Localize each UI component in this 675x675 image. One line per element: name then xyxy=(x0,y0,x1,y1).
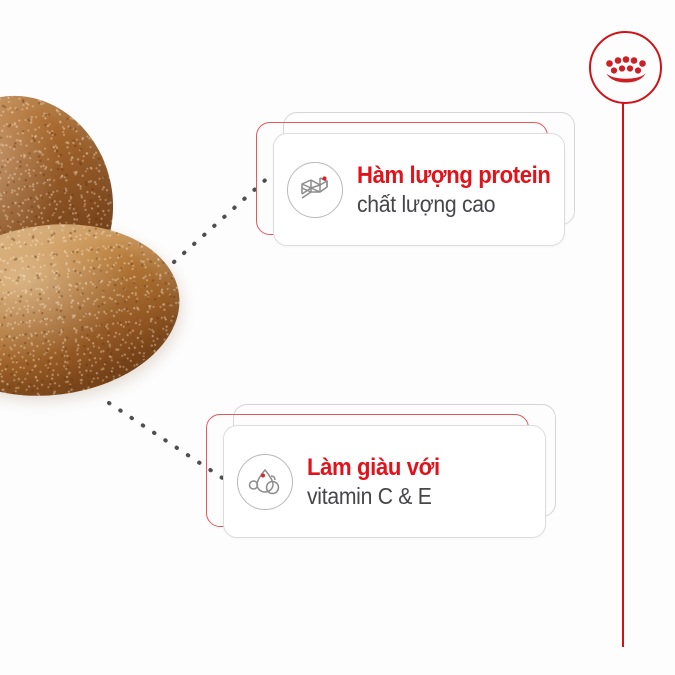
callout-card-protein[interactable]: Hàm lượng protein chất lượng cao xyxy=(256,112,586,262)
callout-content-protein: Hàm lượng protein chất lượng cao xyxy=(273,133,565,246)
callout-text-protein: Hàm lượng protein chất lượng cao xyxy=(357,164,567,216)
callout-title-vitamin: Làm giàu với xyxy=(307,456,440,480)
droplet-bubbles-icon xyxy=(237,454,293,510)
brand-vertical-rule xyxy=(622,99,624,647)
infographic-canvas: Hàm lượng protein chất lượng cao xyxy=(0,0,675,675)
callout-title-protein: Hàm lượng protein xyxy=(357,164,551,188)
protein-chain-icon xyxy=(287,162,343,218)
kibble-flat xyxy=(0,210,189,410)
callout-card-vitamin[interactable]: Làm giàu với vitamin C & E xyxy=(206,404,566,554)
crown-icon xyxy=(603,53,649,83)
brand-logo-badge xyxy=(589,31,662,104)
callout-subtitle-protein: chất lượng cao xyxy=(357,193,551,216)
callout-content-vitamin: Làm giàu với vitamin C & E xyxy=(223,425,546,538)
callout-text-vitamin: Làm giàu với vitamin C & E xyxy=(307,456,451,508)
callout-subtitle-vitamin: vitamin C & E xyxy=(307,485,440,508)
